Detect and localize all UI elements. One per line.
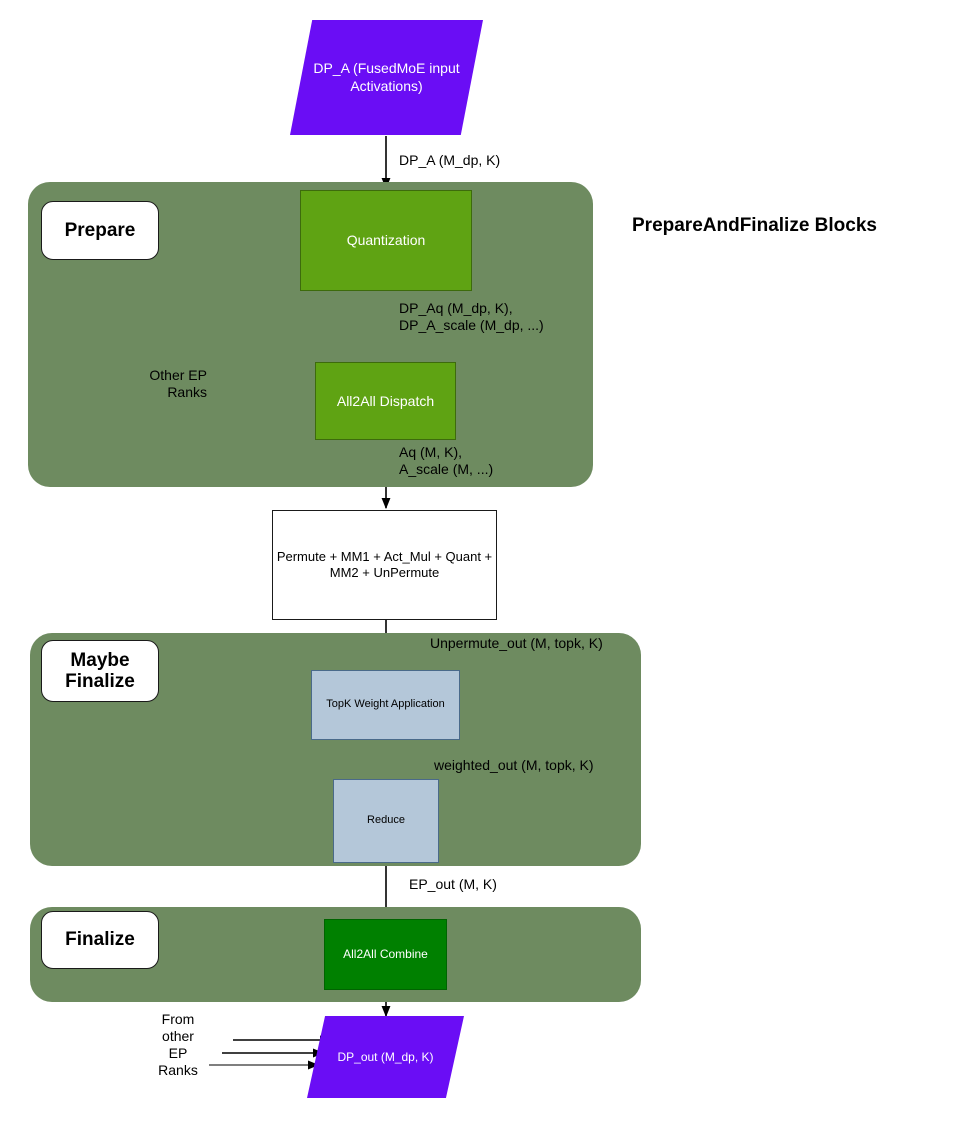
- node-reduce[interactable]: Reduce: [333, 779, 439, 863]
- annotation-other-ep-ranks: Other EP Ranks: [110, 367, 207, 401]
- node-all2all-dispatch-label: All2All Dispatch: [337, 393, 434, 410]
- node-topk-weight-application[interactable]: TopK Weight Application: [311, 670, 460, 740]
- edge-label-ep-out: EP_out (M, K): [409, 876, 497, 893]
- page-title: PrepareAndFinalize Blocks: [632, 215, 877, 237]
- node-reduce-label: Reduce: [367, 814, 405, 827]
- node-all2all-combine-label: All2All Combine: [343, 947, 428, 961]
- node-all2all-combine[interactable]: All2All Combine: [324, 919, 447, 990]
- edge-label-unpermute-out: Unpermute_out (M, topk, K): [430, 635, 603, 652]
- node-dp-a[interactable]: DP_A (FusedMoE input Activations): [290, 20, 483, 135]
- annotation-from-other-ep-ranks: From other EP Ranks: [146, 1011, 210, 1079]
- node-all2all-dispatch[interactable]: All2All Dispatch: [315, 362, 456, 440]
- edge-label-weighted-out: weighted_out (M, topk, K): [434, 757, 594, 774]
- group-badge-finalize: Finalize: [41, 911, 159, 969]
- node-dp-a-label: DP_A (FusedMoE input Activations): [290, 60, 483, 94]
- node-dp-out[interactable]: DP_out (M_dp, K): [307, 1016, 464, 1098]
- node-expert-compute[interactable]: Permute + MM1 + Act_Mul + Quant + MM2 + …: [272, 510, 497, 620]
- node-expert-compute-label: Permute + MM1 + Act_Mul + Quant + MM2 + …: [277, 549, 492, 580]
- edge-label-quant-out: DP_Aq (M_dp, K), DP_A_scale (M_dp, ...): [399, 300, 544, 334]
- group-badge-prepare: Prepare: [41, 201, 159, 260]
- node-dp-out-label: DP_out (M_dp, K): [337, 1050, 433, 1065]
- group-badge-maybe-finalize: Maybe Finalize: [41, 640, 159, 702]
- group-badge-finalize-label: Finalize: [65, 929, 135, 950]
- diagram-canvas: PrepareAndFinalize Blocks DP_A (FusedMoE…: [0, 0, 971, 1121]
- edge-label-dispatch-out: Aq (M, K), A_scale (M, ...): [399, 444, 493, 478]
- node-topk-weight-application-label: TopK Weight Application: [326, 698, 444, 711]
- node-quantization-label: Quantization: [347, 232, 426, 249]
- group-badge-prepare-label: Prepare: [65, 220, 136, 241]
- edge-label-dp-a-out: DP_A (M_dp, K): [399, 152, 500, 169]
- node-quantization[interactable]: Quantization: [300, 190, 472, 291]
- group-badge-maybe-finalize-label: Maybe Finalize: [65, 650, 135, 693]
